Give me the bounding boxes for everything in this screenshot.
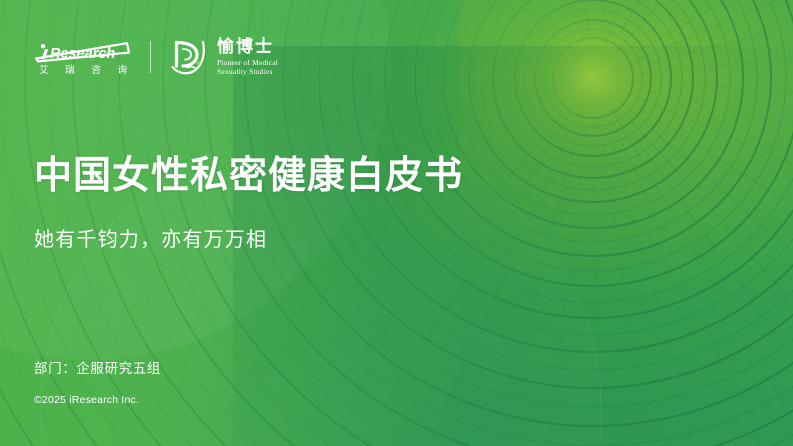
iresearch-sub-char-4: 询 — [117, 66, 127, 76]
title-slide: Research 艾 瑞 咨 询 — [0, 0, 793, 446]
iresearch-sub-char-3: 咨 — [91, 66, 101, 76]
logo-divider — [150, 41, 151, 73]
iresearch-logo-icon: Research — [34, 39, 130, 63]
dr-yu-name-en-line2: Sexuality Studies — [217, 67, 278, 76]
iresearch-sub-char-2: 瑞 — [65, 66, 75, 76]
iresearch-logo-subtitle: 艾 瑞 咨 询 — [37, 66, 127, 76]
page-title: 中国女性私密健康白皮书 — [34, 155, 463, 198]
dr-yu-name-cn: 愉博士 — [217, 38, 278, 55]
dr-yu-logo-icon — [167, 36, 209, 78]
dr-yu-logo: 愉博士 Pioneer of Medical Sexuality Studies — [167, 36, 278, 78]
department-label: 部门：企服研究五组 — [34, 357, 161, 377]
logo-bar: Research 艾 瑞 咨 询 — [34, 36, 278, 78]
svg-text:Research: Research — [50, 46, 115, 62]
copyright-label: ©2025 iResearch Inc. — [34, 394, 139, 406]
page-subtitle: 她有千钧力，亦有万万相 — [34, 228, 267, 252]
iresearch-logo: Research 艾 瑞 咨 询 — [34, 39, 130, 76]
dr-yu-name-en-line1: Pioneer of Medical — [217, 58, 278, 67]
iresearch-sub-char-1: 艾 — [39, 66, 49, 76]
